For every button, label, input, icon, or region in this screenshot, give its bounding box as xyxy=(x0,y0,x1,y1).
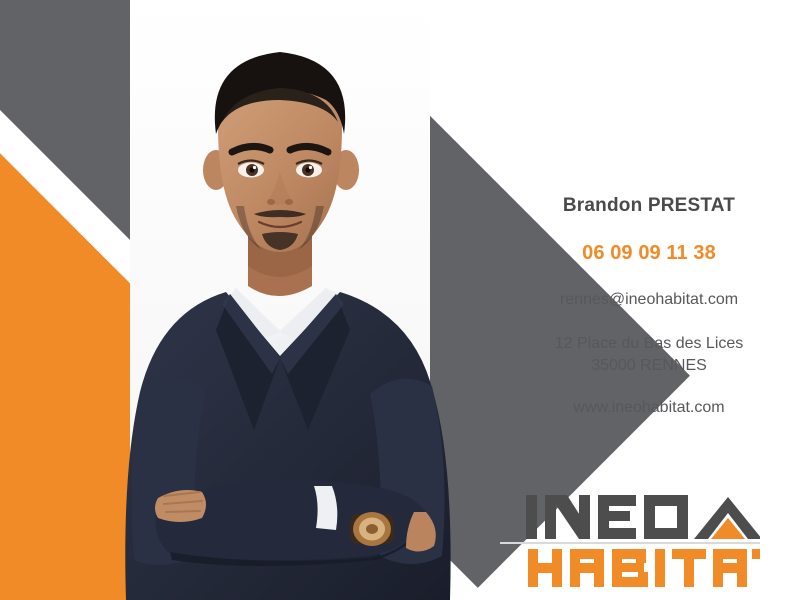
agent-email[interactable]: rennes@ineohabitat.com xyxy=(498,292,800,308)
logo-divider-rule xyxy=(500,542,760,544)
address-line-1: 12 Place du Bas des Lices xyxy=(498,333,800,355)
agent-website[interactable]: www.ineohabitat.com xyxy=(498,400,800,416)
portrait-photo xyxy=(40,0,510,600)
agent-name: Brandon PRESTAT xyxy=(498,196,800,215)
diagonal-stripe-top-right-gray xyxy=(600,0,800,206)
diagonal-stripe-top-right-orange xyxy=(718,0,800,216)
address-line-2: 35000 RENNES xyxy=(498,355,800,377)
company-logo xyxy=(500,487,760,591)
contact-info-panel: Brandon PRESTAT 06 09 09 11 38 rennes@in… xyxy=(498,196,800,416)
logo-word-ineo xyxy=(526,495,688,539)
logo-artwork xyxy=(500,487,760,591)
business-card: Brandon PRESTAT 06 09 09 11 38 rennes@in… xyxy=(0,0,800,600)
house-roof-icon xyxy=(694,497,760,539)
agent-address: 12 Place du Bas des Lices 35000 RENNES xyxy=(498,333,800,376)
agent-phone[interactable]: 06 09 09 11 38 xyxy=(498,243,800,263)
logo-word-habitat xyxy=(528,549,760,587)
portrait-illustration xyxy=(40,0,510,600)
